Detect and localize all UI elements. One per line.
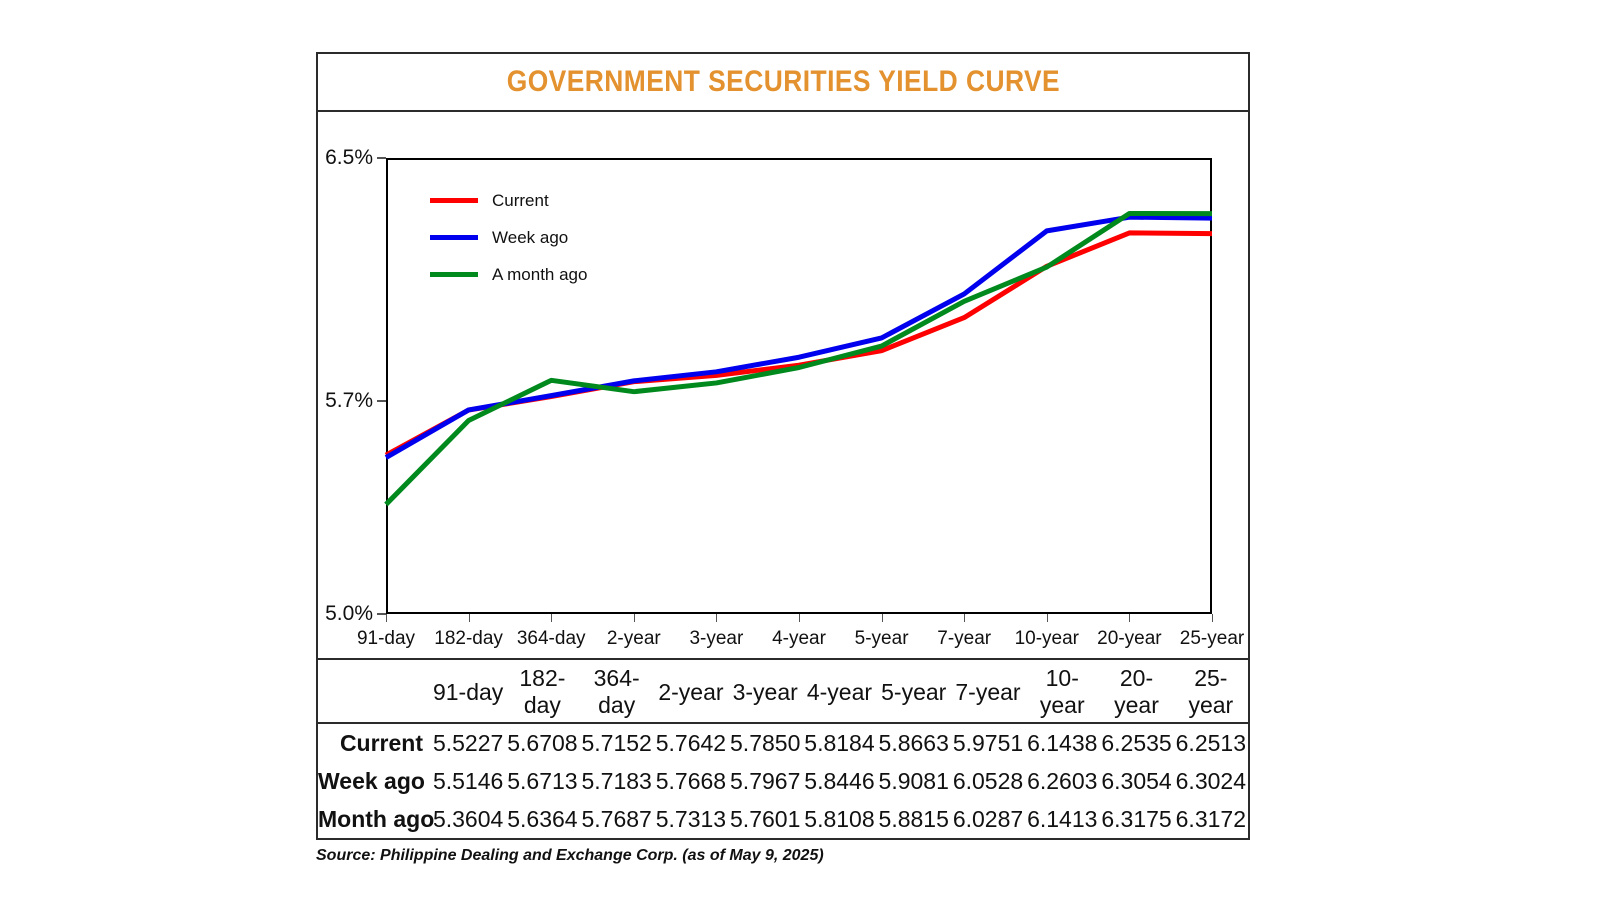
legend-item-label: Current [492, 191, 549, 211]
y-axis-tick-label: 5.0% [325, 602, 373, 626]
table-row-label: Week ago [318, 762, 431, 800]
x-axis-tick-mark [1212, 614, 1213, 622]
table-cell: 6.3175 [1099, 800, 1173, 838]
table-cell: 5.7183 [580, 762, 654, 800]
plot-wrapper: 6.5%5.7%5.0% 91-day182-day364-day2-year3… [386, 158, 1212, 614]
table-row-label: Month ago [318, 800, 431, 838]
table-column-header: 20-year [1099, 660, 1173, 723]
x-axis-tick-label: 4-year [772, 628, 826, 650]
x-axis-tick-label: 91-day [357, 628, 415, 650]
legend-swatch-icon [430, 272, 478, 277]
x-axis-tick-label: 10-year [1015, 628, 1079, 650]
table-column-header: 3-year [728, 660, 802, 723]
table-column-header: 10-year [1025, 660, 1099, 723]
y-axis-tick-mark [377, 157, 386, 159]
table-cell: 5.7668 [654, 762, 728, 800]
legend-item-label: Week ago [492, 228, 568, 248]
legend-item-label: A month ago [492, 265, 587, 285]
table-cell: 6.2513 [1174, 723, 1248, 762]
table-cell: 5.8446 [802, 762, 876, 800]
x-axis-tick-label: 2-year [607, 628, 661, 650]
y-axis-tick-label: 5.7% [325, 389, 373, 413]
table-column-header: 182-day [505, 660, 579, 723]
table-cell: 5.8663 [877, 723, 951, 762]
table-column-header: 25-year [1174, 660, 1248, 723]
table-column-header: 7-year [951, 660, 1025, 723]
table-cell: 5.7967 [728, 762, 802, 800]
legend-item-a-month-ago: A month ago [430, 256, 587, 293]
x-axis-tick-label: 5-year [855, 628, 909, 650]
x-axis-tick-label: 182-day [434, 628, 503, 650]
title-band: GOVERNMENT SECURITIES YIELD CURVE [318, 54, 1248, 112]
chart-legend: CurrentWeek agoA month ago [430, 182, 587, 293]
table-row: Month ago5.36045.63645.76875.73135.76015… [318, 800, 1248, 838]
table-cell: 6.2603 [1025, 762, 1099, 800]
table-cell: 6.2535 [1099, 723, 1173, 762]
table-column-header: 364-day [580, 660, 654, 723]
table-column-header: 91-day [431, 660, 505, 723]
x-axis-tick-label: 25-year [1180, 628, 1244, 650]
source-note: Source: Philippine Dealing and Exchange … [316, 847, 1250, 865]
table-cell: 6.1438 [1025, 723, 1099, 762]
legend-item-week-ago: Week ago [430, 219, 587, 256]
legend-swatch-icon [430, 235, 478, 240]
table-cell: 5.8184 [802, 723, 876, 762]
table-cell: 5.7687 [580, 800, 654, 838]
table-row: Current5.52275.67085.71525.76425.78505.8… [318, 723, 1248, 762]
table-head: 91-day182-day364-day2-year3-year4-year5-… [318, 660, 1248, 723]
x-axis-tick-mark [469, 614, 470, 622]
table-cell: 5.6364 [505, 800, 579, 838]
x-axis-tick-mark [1129, 614, 1130, 622]
table-cell: 6.1413 [1025, 800, 1099, 838]
table-cell: 6.3172 [1174, 800, 1248, 838]
table-cell: 6.3024 [1174, 762, 1248, 800]
table-body: Current5.52275.67085.71525.76425.78505.8… [318, 723, 1248, 838]
table-header-row: 91-day182-day364-day2-year3-year4-year5-… [318, 660, 1248, 723]
chart-band: 6.5%5.7%5.0% 91-day182-day364-day2-year3… [318, 112, 1248, 658]
x-axis-tick-mark [386, 614, 387, 622]
yield-curve-figure: GOVERNMENT SECURITIES YIELD CURVE 6.5%5.… [316, 52, 1250, 865]
table-cell: 5.8108 [802, 800, 876, 838]
table-cell: 5.7850 [728, 723, 802, 762]
table-column-header: 4-year [802, 660, 876, 723]
table-corner-cell [318, 660, 431, 723]
x-axis-tick-label: 7-year [937, 628, 991, 650]
table-cell: 5.6713 [505, 762, 579, 800]
x-axis-tick-mark [964, 614, 965, 622]
table-cell: 5.9081 [877, 762, 951, 800]
table-cell: 6.3054 [1099, 762, 1173, 800]
x-axis-tick-mark [799, 614, 800, 622]
y-axis-tick-label: 6.5% [325, 146, 373, 170]
data-table-band: 91-day182-day364-day2-year3-year4-year5-… [318, 658, 1248, 838]
table-cell: 5.8815 [877, 800, 951, 838]
y-axis-tick-mark [377, 613, 386, 615]
page-title: GOVERNMENT SECURITIES YIELD CURVE [506, 65, 1059, 99]
table-cell: 5.6708 [505, 723, 579, 762]
x-axis-tick-mark [551, 614, 552, 622]
table-cell: 5.7601 [728, 800, 802, 838]
chart-frame: GOVERNMENT SECURITIES YIELD CURVE 6.5%5.… [316, 52, 1250, 840]
yield-data-table: 91-day182-day364-day2-year3-year4-year5-… [318, 660, 1248, 838]
table-column-header: 5-year [877, 660, 951, 723]
table-cell: 6.0287 [951, 800, 1025, 838]
x-axis-tick-mark [634, 614, 635, 622]
legend-swatch-icon [430, 198, 478, 203]
table-cell: 5.7152 [580, 723, 654, 762]
y-axis-tick-mark [377, 400, 386, 402]
x-axis-tick-mark [716, 614, 717, 622]
x-axis-tick-mark [882, 614, 883, 622]
table-cell: 5.9751 [951, 723, 1025, 762]
table-cell: 5.3604 [431, 800, 505, 838]
x-axis-tick-mark [1047, 614, 1048, 622]
x-axis-tick-label: 20-year [1097, 628, 1161, 650]
table-row-label: Current [318, 723, 431, 762]
table-column-header: 2-year [654, 660, 728, 723]
table-cell: 5.7313 [654, 800, 728, 838]
table-cell: 5.5146 [431, 762, 505, 800]
x-axis-tick-label: 3-year [689, 628, 743, 650]
table-cell: 5.7642 [654, 723, 728, 762]
table-cell: 5.5227 [431, 723, 505, 762]
table-row: Week ago5.51465.67135.71835.76685.79675.… [318, 762, 1248, 800]
legend-item-current: Current [430, 182, 587, 219]
table-cell: 6.0528 [951, 762, 1025, 800]
x-axis-tick-label: 364-day [517, 628, 586, 650]
